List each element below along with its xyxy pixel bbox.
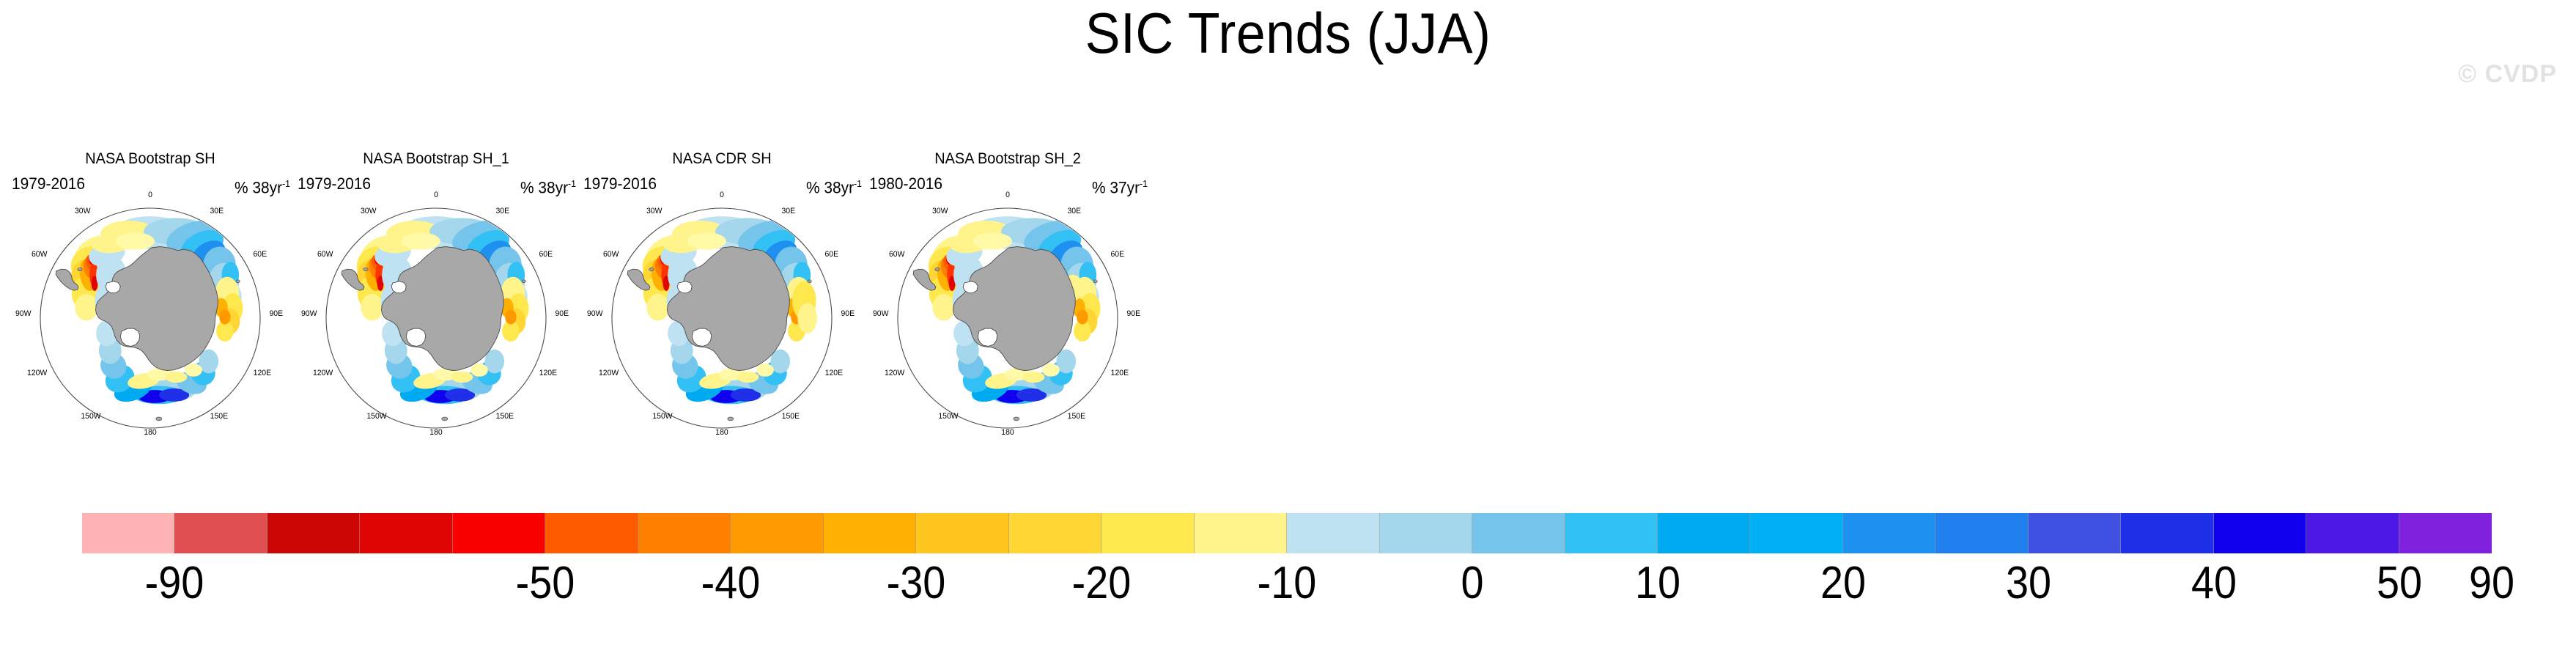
longitude-label: 0 xyxy=(148,191,152,199)
island xyxy=(935,268,940,271)
longitude-label: 120E xyxy=(825,369,843,377)
panel-title: NASA CDR SH xyxy=(586,150,858,168)
colorbar-tick-label: 90 xyxy=(2469,557,2514,610)
longitude-label: 30E xyxy=(495,207,509,215)
longitude-label: 150E xyxy=(782,412,800,421)
sic-trend-patch xyxy=(470,364,488,377)
longitude-label: 60E xyxy=(539,250,553,259)
longitude-label: 90E xyxy=(555,309,569,318)
landmass-ronne-ice-shelf-gap xyxy=(106,281,120,293)
island xyxy=(156,417,162,421)
panel-period: 1979-2016 xyxy=(12,175,85,193)
longitude-label: 150E xyxy=(496,412,514,421)
colorbar-tick-label: -90 xyxy=(145,557,204,610)
colorbar-cell xyxy=(1380,513,1472,553)
map-panel: NASA Bootstrap SH_11979-2016% 38yr-1030E… xyxy=(293,150,579,443)
longitude-label: 150W xyxy=(652,412,672,421)
colorbar-tick-label: -20 xyxy=(1072,557,1132,610)
longitude-label: 90E xyxy=(841,309,855,318)
panel-period: 1980-2016 xyxy=(869,175,942,193)
island xyxy=(236,280,240,283)
colorbar-tick-label: 20 xyxy=(1820,557,1866,610)
panel-period: 1979-2016 xyxy=(583,175,657,193)
longitude-label: 30W xyxy=(75,207,90,215)
colorbar-cell xyxy=(1472,513,1565,553)
longitude-label: 60E xyxy=(254,250,267,259)
longitude-label: 30E xyxy=(1067,207,1081,215)
longitude-label: 120W xyxy=(885,369,904,377)
sic-trend-patch xyxy=(402,232,440,250)
longitude-label: 0 xyxy=(1005,191,1010,199)
colorbar-tick-label: 30 xyxy=(2006,557,2051,610)
colorbar-tick-label: -10 xyxy=(1258,557,1317,610)
longitude-label: 30W xyxy=(932,207,948,215)
longitude-label: 60W xyxy=(32,250,47,259)
polar-map: 030E60E90E120E150E180150W120W90W60W30W xyxy=(306,191,566,436)
longitude-label: 60W xyxy=(603,250,619,259)
longitude-label: 90W xyxy=(15,309,31,318)
sic-trend-patch xyxy=(737,372,759,383)
colorbar-cell xyxy=(360,513,452,553)
longitude-label: 150W xyxy=(81,412,100,421)
island xyxy=(78,268,82,271)
longitude-label: 60W xyxy=(317,250,333,259)
sic-trend-patch xyxy=(75,294,97,321)
sic-trend-patch xyxy=(797,303,817,333)
island xyxy=(808,280,811,283)
longitude-label: 60E xyxy=(1111,250,1125,259)
longitude-label: 180 xyxy=(1001,428,1014,437)
colorbar-cell xyxy=(1565,513,1658,553)
longitude-label: 90W xyxy=(587,309,602,318)
island xyxy=(442,417,448,421)
colorbar-cell xyxy=(2029,513,2121,553)
colorbar-cell xyxy=(1101,513,1194,553)
colorbar-cell xyxy=(731,513,823,553)
longitude-label: 0 xyxy=(720,191,724,199)
polar-map: 030E60E90E120E150E180150W120W90W60W30W xyxy=(592,191,852,436)
longitude-label: 60W xyxy=(889,250,904,259)
panel-units-exponent: -1 xyxy=(854,178,862,189)
sic-trend-patch xyxy=(756,364,774,377)
sic-trend-patch xyxy=(1023,372,1045,383)
colorbar-cell xyxy=(82,513,174,553)
panel-title: NASA Bootstrap SH_2 xyxy=(872,150,1144,168)
longitude-label: 0 xyxy=(434,191,438,199)
sic-trend-patch xyxy=(166,372,188,383)
longitude-label: 30E xyxy=(781,207,795,215)
colorbar-tick-label: 40 xyxy=(2191,557,2237,610)
panel-title: NASA Bootstrap SH_1 xyxy=(300,150,572,168)
longitude-label: 90E xyxy=(269,309,283,318)
sic-trend-patch xyxy=(1042,364,1060,377)
panel-units-exponent: -1 xyxy=(282,178,290,189)
colorbar-tick-label: -40 xyxy=(701,557,761,610)
sic-trend-patch xyxy=(646,294,669,321)
sic-trend-patch xyxy=(185,364,202,377)
sic-trend-patch xyxy=(687,232,726,250)
longitude-label: 120E xyxy=(539,369,557,377)
longitude-label: 90E xyxy=(1126,309,1140,318)
polar-map: 030E60E90E120E150E180150W120W90W60W30W xyxy=(21,191,280,436)
colorbar-cell xyxy=(1935,513,2028,553)
colorbar-cell xyxy=(267,513,360,553)
map-panel: NASA Bootstrap SH_21980-2016% 37yr-1030E… xyxy=(865,150,1151,443)
colorbar-cell xyxy=(1009,513,1101,553)
longitude-label: 150E xyxy=(1068,412,1085,421)
longitude-label: 120W xyxy=(599,369,619,377)
colorbar-cell xyxy=(1195,513,1287,553)
sic-trend-patch xyxy=(361,294,383,321)
panel-title: NASA Bootstrap SH xyxy=(15,150,287,168)
page-title: SIC Trends (JJA) xyxy=(103,1,2473,65)
longitude-label: 120W xyxy=(27,369,47,377)
island xyxy=(363,268,368,271)
colorbar-tick-labels: -90-50-40-30-20-100102030405090 xyxy=(0,557,2576,616)
polar-map: 030E60E90E120E150E180150W120W90W60W30W xyxy=(878,191,1137,436)
island xyxy=(649,268,654,271)
longitude-label: 120W xyxy=(313,369,333,377)
longitude-label: 120E xyxy=(254,369,271,377)
panel-units-exponent: -1 xyxy=(568,178,576,189)
colorbar-tick-label: -30 xyxy=(887,557,946,610)
longitude-label: 150W xyxy=(366,412,386,421)
longitude-label: 150E xyxy=(210,412,228,421)
colorbar-tick-label: 10 xyxy=(1635,557,1680,610)
colorbar-tick-label: 50 xyxy=(2376,557,2421,610)
landmass-ronne-ice-shelf-gap xyxy=(963,281,978,293)
panel-units-exponent: -1 xyxy=(1140,178,1148,189)
longitude-label: 150W xyxy=(938,412,958,421)
sic-trend-patch xyxy=(932,294,955,321)
longitude-label: 30E xyxy=(210,207,224,215)
colorbar-tick-label: 0 xyxy=(1461,557,1483,610)
sic-trend-patch xyxy=(219,310,230,325)
sic-trend-patch xyxy=(1077,310,1088,325)
colorbar-cell xyxy=(2214,513,2306,553)
colorbar-cell xyxy=(1658,513,1750,553)
colorbar-cell xyxy=(824,513,916,553)
longitude-label: 30W xyxy=(646,207,662,215)
colorbar-cell xyxy=(916,513,1008,553)
sic-trend-patch xyxy=(505,310,516,325)
longitude-label: 180 xyxy=(429,428,442,437)
colorbar-cell xyxy=(638,513,731,553)
longitude-label: 30W xyxy=(361,207,376,215)
colorbar-cell xyxy=(2399,513,2492,553)
colorbar-cell xyxy=(1287,513,1379,553)
colorbar-cell xyxy=(545,513,638,553)
sic-trend-patch xyxy=(451,372,473,383)
cvdp-watermark: © CVDP xyxy=(2458,60,2557,89)
island xyxy=(1093,280,1097,283)
longitude-label: 180 xyxy=(144,428,156,437)
map-panel: NASA CDR SH1979-2016% 38yr-1030E60E90E12… xyxy=(579,150,865,443)
colorbar-cell xyxy=(174,513,267,553)
sic-trend-patch xyxy=(116,232,155,250)
colorbar-cell xyxy=(2306,513,2399,553)
longitude-label: 90W xyxy=(873,309,888,318)
longitude-label: 120E xyxy=(1111,369,1129,377)
map-panel: NASA Bootstrap SH1979-2016% 38yr-1030E60… xyxy=(7,150,293,443)
island xyxy=(1014,417,1019,421)
colorbar-cell xyxy=(453,513,545,553)
longitude-label: 60E xyxy=(825,250,839,259)
colorbar-cell xyxy=(2121,513,2213,553)
landmass-ronne-ice-shelf-gap xyxy=(677,281,692,293)
island xyxy=(728,417,734,421)
longitude-label: 90W xyxy=(301,309,317,318)
colorbar-cell xyxy=(1750,513,1842,553)
colorbar xyxy=(82,513,2492,553)
island xyxy=(522,280,525,283)
colorbar-cell xyxy=(1843,513,1935,553)
longitude-label: 180 xyxy=(715,428,728,437)
colorbar-tick-label: -50 xyxy=(516,557,575,610)
landmass-ronne-ice-shelf-gap xyxy=(391,281,406,293)
panel-period: 1979-2016 xyxy=(298,175,371,193)
sic-trend-patch xyxy=(973,232,1012,250)
